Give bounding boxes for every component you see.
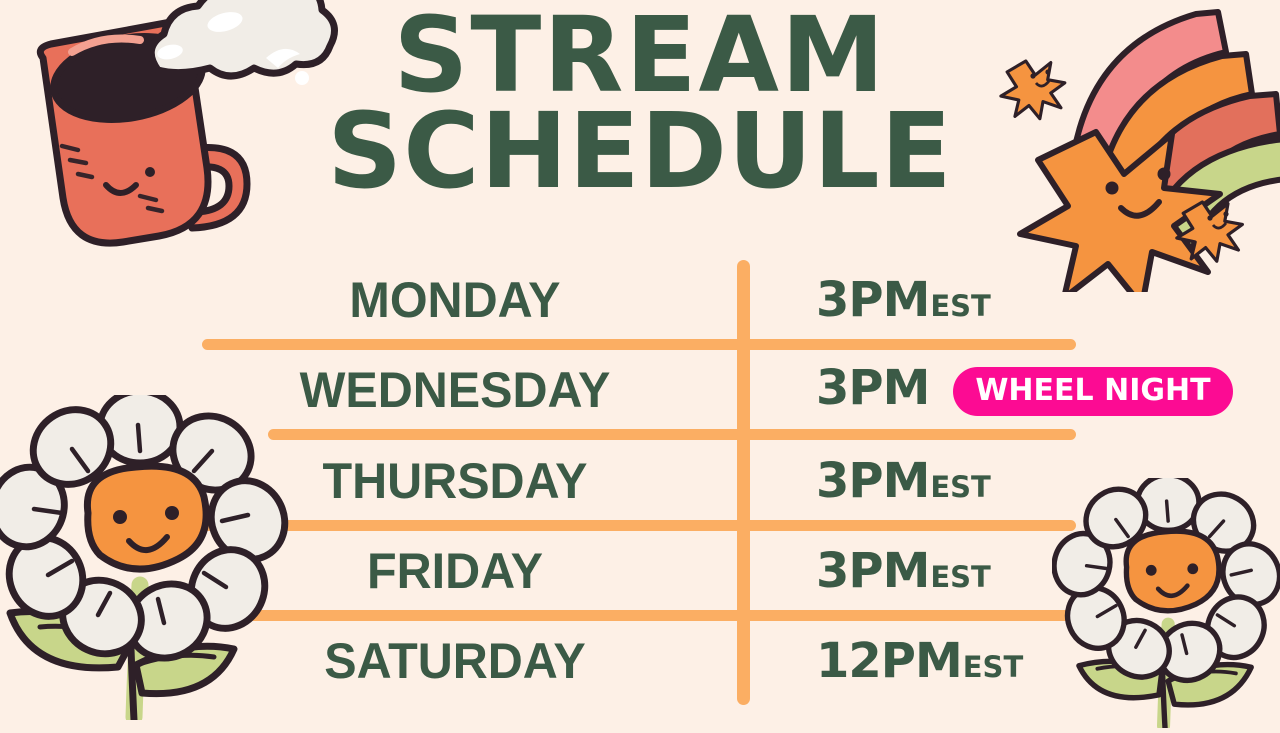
time-cell: 12PM EST bbox=[816, 633, 1023, 689]
time-value: 3PM bbox=[816, 543, 929, 599]
title-line-schedule: SCHEDULE bbox=[0, 104, 1280, 200]
timezone-label: EST bbox=[930, 289, 990, 323]
time-cell: 3PM WHEEL NIGHT bbox=[816, 360, 1233, 420]
time-value: 12PM bbox=[816, 633, 962, 689]
time-value: 3PM bbox=[816, 272, 929, 328]
coffee-mug-illustration bbox=[10, 0, 350, 255]
shooting-star-illustration bbox=[976, 0, 1280, 297]
poster-canvas: STREAM SCHEDULE MONDAY 3PM EST WEDNESDAY… bbox=[0, 0, 1280, 720]
time-value: 3PM bbox=[816, 360, 929, 416]
time-value: 3PM bbox=[816, 453, 929, 509]
time-cell: 3PM EST bbox=[816, 272, 991, 328]
day-label: THURSDAY bbox=[198, 452, 712, 510]
small-star-icon bbox=[1001, 61, 1065, 119]
table-row: WEDNESDAY 3PM WHEEL NIGHT bbox=[0, 345, 1280, 435]
day-label: MONDAY bbox=[198, 271, 712, 329]
table-row: THURSDAY 3PM EST bbox=[0, 436, 1280, 526]
table-row: SATURDAY 12PM EST bbox=[0, 616, 1280, 706]
coffee-mug-icon bbox=[10, 0, 350, 250]
time-cell: 3PM EST bbox=[816, 543, 991, 599]
schedule-table: MONDAY 3PM EST WEDNESDAY 3PM WHEEL NIGHT… bbox=[0, 255, 1280, 710]
time-cell: 3PM EST bbox=[816, 453, 991, 509]
page-title: STREAM SCHEDULE bbox=[0, 8, 1280, 199]
day-label: WEDNESDAY bbox=[198, 361, 712, 419]
day-label: SATURDAY bbox=[198, 632, 712, 690]
shooting-star-rainbow-icon bbox=[976, 0, 1280, 292]
timezone-label: EST bbox=[930, 470, 990, 504]
title-line-stream: STREAM bbox=[0, 8, 1280, 104]
small-star-icon bbox=[1177, 202, 1243, 261]
timezone-label: EST bbox=[930, 560, 990, 594]
day-label: FRIDAY bbox=[198, 542, 712, 600]
status-badge-wheel-night[interactable]: WHEEL NIGHT bbox=[953, 367, 1232, 416]
table-row: FRIDAY 3PM EST bbox=[0, 526, 1280, 616]
table-row: MONDAY 3PM EST bbox=[0, 255, 1280, 345]
timezone-label: EST bbox=[963, 650, 1023, 684]
